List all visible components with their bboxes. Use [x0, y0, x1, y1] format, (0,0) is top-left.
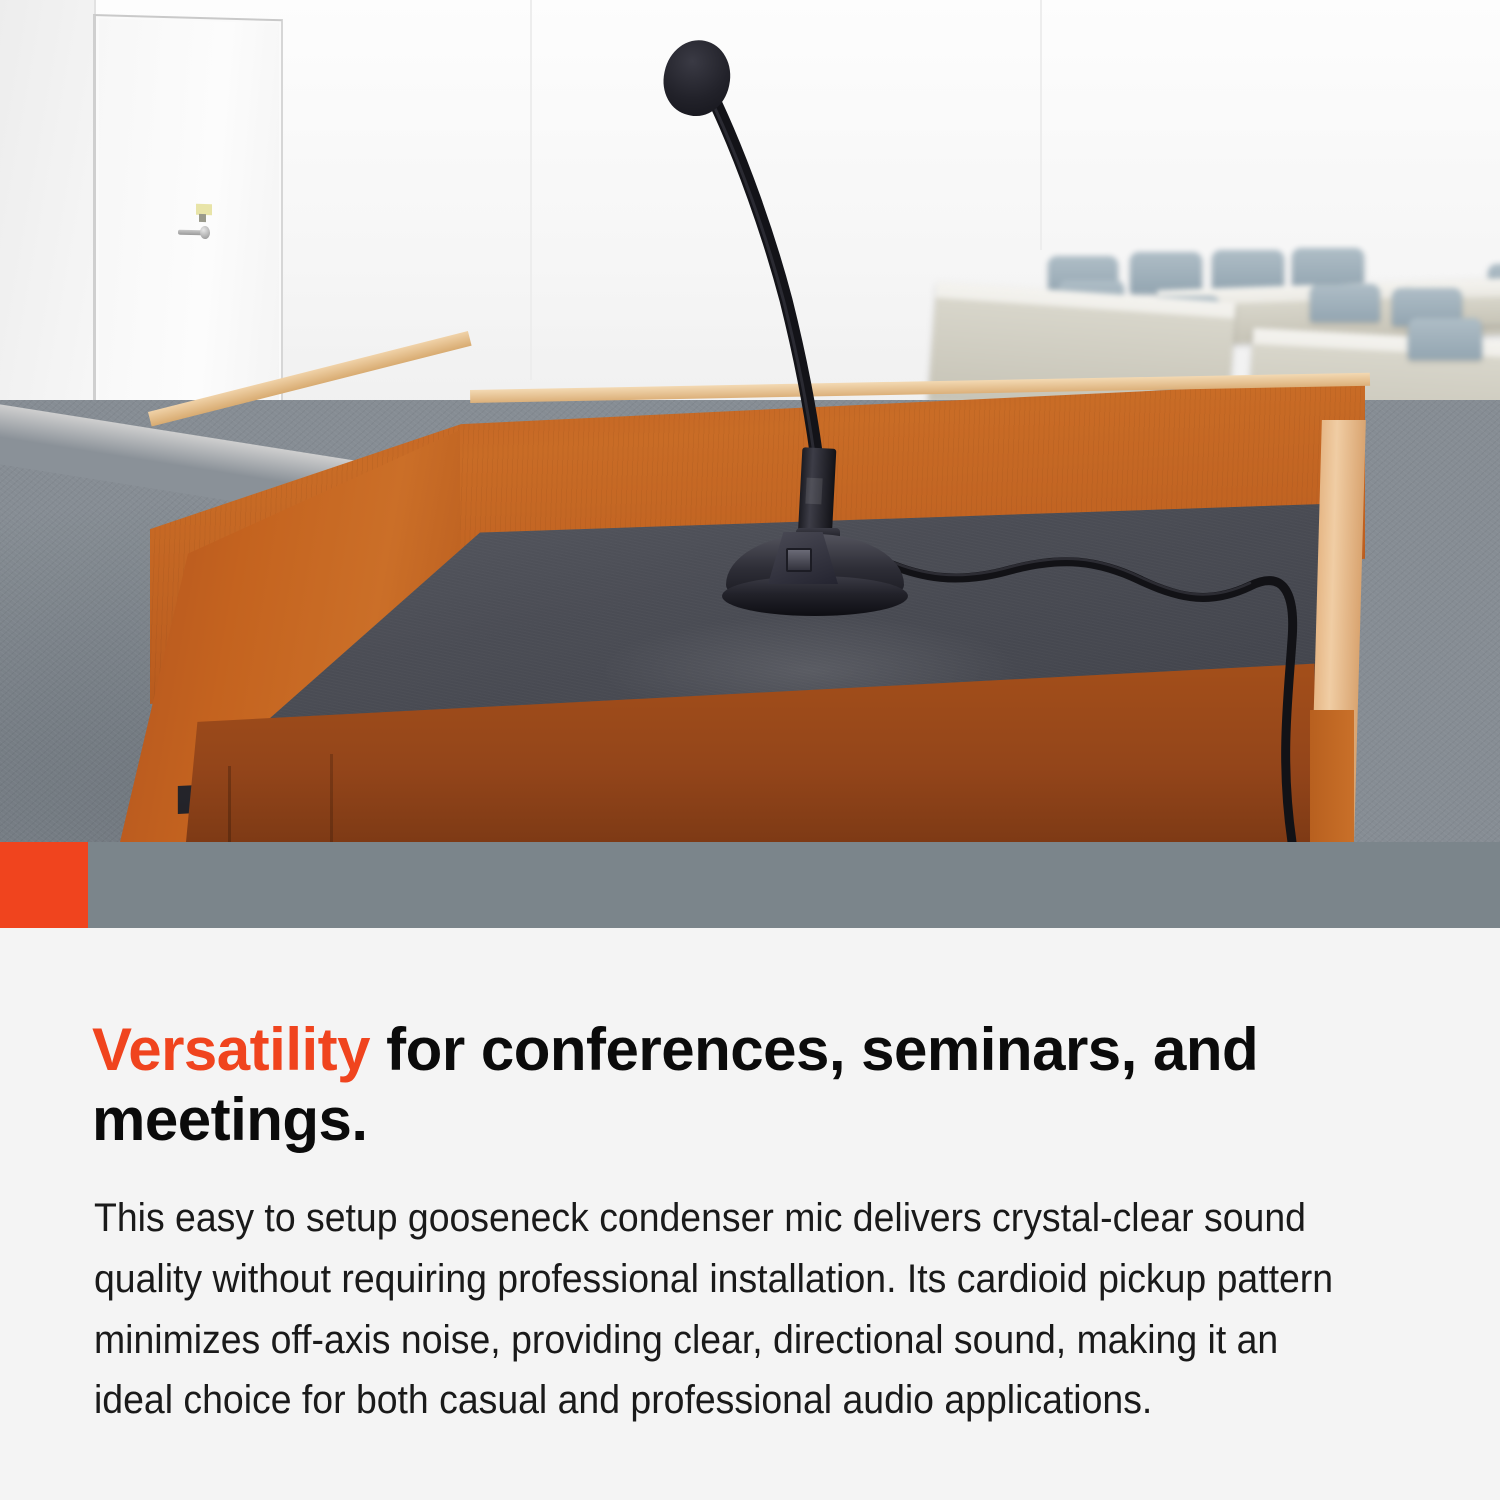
- divider-band: [0, 842, 1500, 928]
- microphone-power-switch[interactable]: [786, 548, 812, 572]
- accent-block: [0, 842, 88, 928]
- product-photo: [0, 0, 1500, 842]
- page-title: Versatility for conferences, seminars, a…: [92, 1015, 1422, 1154]
- gray-block: [88, 842, 1500, 928]
- microphone-gooseneck: [0, 0, 1500, 842]
- description-paragraph: This easy to setup gooseneck condenser m…: [94, 1188, 1347, 1431]
- title-accent-word: Versatility: [92, 1016, 370, 1083]
- microphone-label: [805, 478, 822, 505]
- text-panel: Versatility for conferences, seminars, a…: [0, 928, 1500, 1500]
